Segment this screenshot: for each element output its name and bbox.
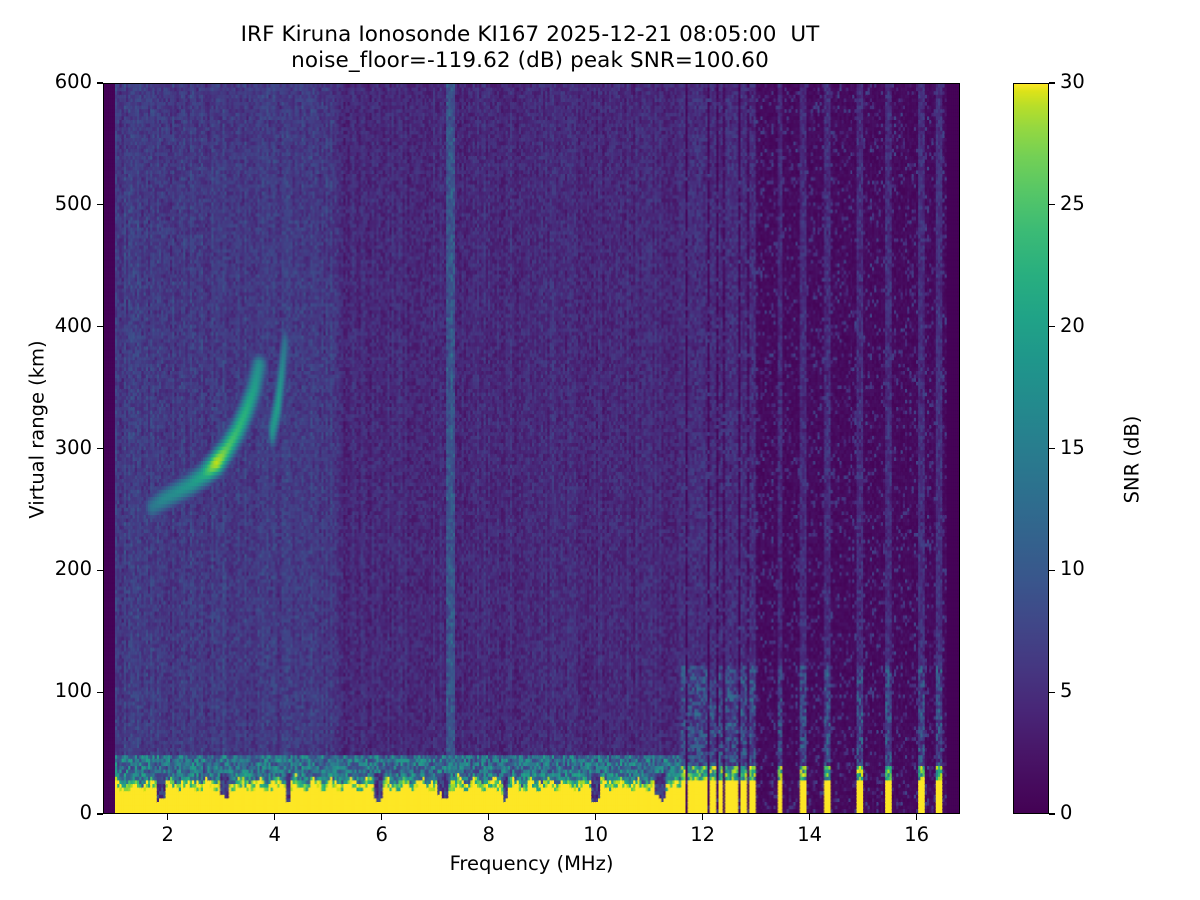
colorbar-tick-label: 5 — [1060, 679, 1072, 702]
ionogram-figure: IRF Kiruna Ionosonde KI167 2025-12-21 08… — [0, 0, 1200, 900]
x-tick-label: 8 — [449, 823, 529, 846]
colorbar-tick-label: 10 — [1060, 557, 1085, 580]
y-tick-mark — [97, 448, 103, 449]
colorbar-tick-label: 0 — [1060, 801, 1072, 824]
x-tick-mark — [916, 814, 917, 820]
x-tick-mark — [702, 814, 703, 820]
colorbar-tick-mark — [1049, 813, 1055, 814]
colorbar-tick-mark — [1049, 448, 1055, 449]
y-tick-label: 300 — [10, 436, 92, 459]
colorbar-label: SNR (dB) — [1121, 350, 1144, 570]
y-tick-label: 400 — [10, 314, 92, 337]
x-tick-label: 10 — [556, 823, 636, 846]
colorbar-tick-label: 20 — [1060, 314, 1085, 337]
x-tick-label: 16 — [877, 823, 957, 846]
y-tick-mark — [97, 813, 103, 814]
x-tick-mark — [167, 814, 168, 820]
y-tick-mark — [97, 692, 103, 693]
colorbar-tick-label: 25 — [1060, 192, 1085, 215]
x-axis-label: Frequency (MHz) — [103, 852, 960, 875]
y-tick-mark — [97, 326, 103, 327]
y-tick-label: 200 — [10, 557, 92, 580]
x-tick-label: 4 — [235, 823, 315, 846]
colorbar-tick-mark — [1049, 326, 1055, 327]
colorbar-tick-mark — [1049, 204, 1055, 205]
x-tick-mark — [274, 814, 275, 820]
y-tick-label: 500 — [10, 192, 92, 215]
y-tick-mark — [97, 82, 103, 83]
x-tick-mark — [595, 814, 596, 820]
x-tick-mark — [809, 814, 810, 820]
y-tick-label: 0 — [10, 801, 92, 824]
x-tick-mark — [381, 814, 382, 820]
y-tick-mark — [97, 204, 103, 205]
y-tick-label: 600 — [10, 70, 92, 93]
colorbar-gradient — [1013, 83, 1049, 814]
x-tick-label: 12 — [663, 823, 743, 846]
colorbar-tick-label: 30 — [1060, 70, 1085, 93]
y-tick-label: 100 — [10, 679, 92, 702]
title-line-1: IRF Kiruna Ionosonde KI167 2025-12-21 08… — [0, 22, 1060, 48]
y-tick-mark — [97, 570, 103, 571]
colorbar-tick-label: 15 — [1060, 436, 1085, 459]
figure-title: IRF Kiruna Ionosonde KI167 2025-12-21 08… — [0, 22, 1060, 74]
colorbar-tick-mark — [1049, 570, 1055, 571]
ionogram-heatmap — [104, 84, 959, 813]
colorbar-tick-mark — [1049, 82, 1055, 83]
x-tick-label: 6 — [342, 823, 422, 846]
x-tick-label: 2 — [128, 823, 208, 846]
colorbar-tick-mark — [1049, 692, 1055, 693]
x-tick-label: 14 — [770, 823, 850, 846]
plot-axes — [103, 83, 960, 814]
x-tick-mark — [488, 814, 489, 820]
title-line-2: noise_floor=-119.62 (dB) peak SNR=100.60 — [0, 48, 1060, 74]
